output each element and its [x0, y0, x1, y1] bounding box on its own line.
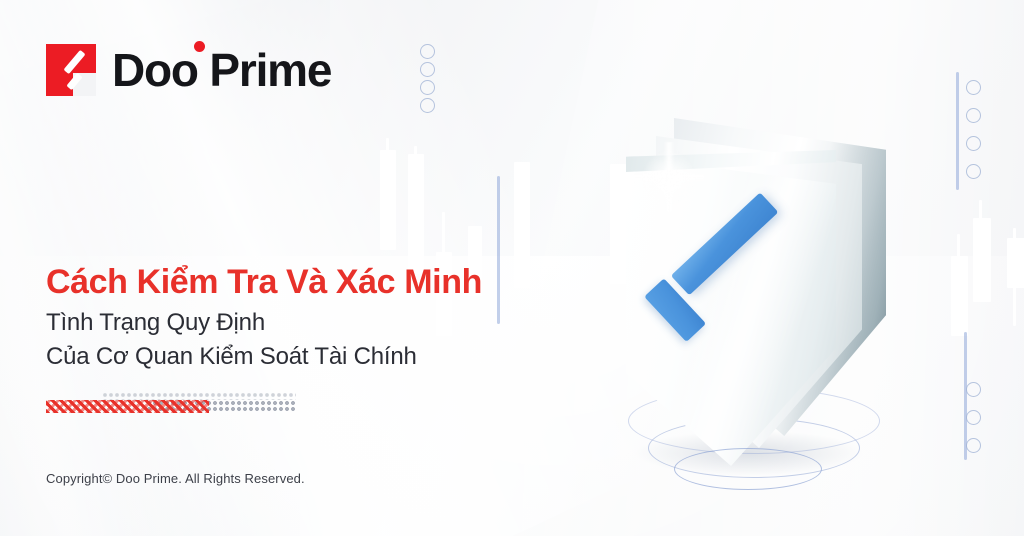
hero-text-block: Cách Kiểm Tra Và Xác Minh Tình Trạng Quy… [46, 262, 482, 374]
page-subtitle-line-1: Tình Trạng Quy Định [46, 306, 482, 340]
page-title: Cách Kiểm Tra Và Xác Minh [46, 262, 482, 302]
logo-slash-upper [63, 50, 85, 74]
shield-glint-icon [634, 142, 704, 212]
page-subtitle-line-2: Của Cơ Quan Kiểm Soát Tài Chính [46, 340, 482, 374]
copyright-text: Copyright© Doo Prime. All Rights Reserve… [46, 471, 305, 486]
doo-prime-banner: Doo Prime Cách Kiểm Tra Và Xác Minh Tình… [0, 0, 1024, 536]
base-ring-inner [674, 448, 822, 490]
decorative-divider [46, 392, 296, 414]
doo-prime-logo[interactable]: Doo Prime [46, 44, 331, 96]
shield-icon [596, 100, 926, 470]
divider-dots-gray-top [102, 392, 296, 400]
checkmark-icon [654, 222, 802, 342]
logo-i-dot [194, 41, 205, 52]
logo-wordmark: Doo Prime [112, 47, 331, 93]
doo-prime-mark-icon [46, 44, 96, 96]
divider-dots-red [46, 400, 209, 413]
